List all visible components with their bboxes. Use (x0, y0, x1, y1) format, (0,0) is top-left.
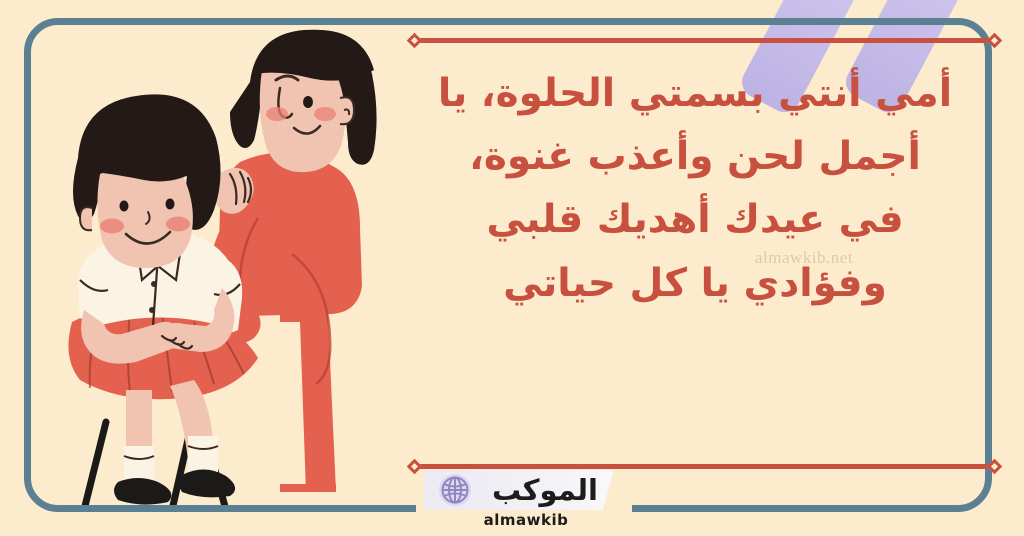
logo-name-arabic: الموكب (482, 471, 608, 509)
diamond-ornament-bottom-left (407, 459, 423, 475)
globe-icon (438, 473, 472, 507)
accent-rule-bottom (418, 464, 996, 469)
diamond-ornament-bottom-right (987, 459, 1003, 475)
diamond-ornament-top-left (407, 33, 423, 49)
site-watermark: almawkib.net (755, 248, 853, 268)
poem-line-1: أمي أنتي بسمتي الحلوة، يا (410, 62, 980, 125)
poem-line-3: في عيدك أهديك قلبي (410, 188, 980, 251)
frame-bottom-stub-left (330, 505, 416, 512)
poem-line-4: وفؤادي يا كل حياتي (410, 252, 980, 315)
frame-bottom-stub-right (632, 505, 718, 512)
accent-rule-top (418, 38, 996, 43)
mother-and-daughter-illustration (44, 22, 394, 512)
logo-name-latin: almawkib (446, 511, 606, 529)
diamond-ornament-top-right (987, 33, 1003, 49)
poem-line-2: أجمل لحن وأعذب غنوة، (410, 125, 980, 188)
poster-canvas: أمي أنتي بسمتي الحلوة، يا أجمل لحن وأعذب… (0, 0, 1024, 536)
poem-text-block: أمي أنتي بسمتي الحلوة، يا أجمل لحن وأعذب… (410, 62, 980, 315)
brand-logo[interactable]: الموكب almawkib (424, 470, 626, 528)
